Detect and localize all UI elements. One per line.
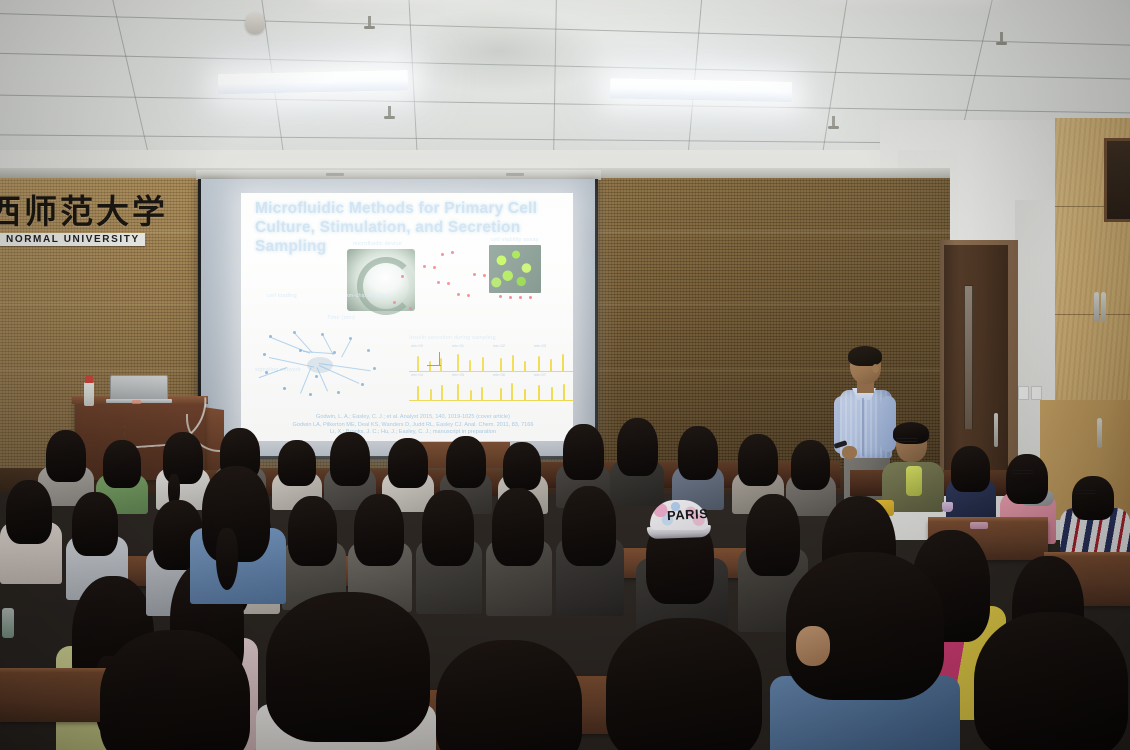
audience-member-foreground: [96, 636, 256, 750]
mobile-phone: [970, 522, 988, 529]
desk-surface: [928, 517, 1048, 522]
audience-member-olive-vest: [882, 424, 944, 510]
audience-member-foreground: [430, 646, 586, 750]
audience-member: [946, 446, 996, 516]
audience-member: [416, 490, 482, 608]
paris-cap: PARIS: [650, 500, 712, 542]
eyeglasses: [1074, 490, 1096, 494]
cap-text: PARIS: [667, 506, 709, 523]
audience-member: [348, 494, 412, 606]
eyeglasses: [1012, 470, 1034, 474]
audience-member: [282, 496, 346, 606]
lecture-hall-photo: 西师范大学 XI NORMAL UNIVERSITY Microfluidic …: [0, 0, 1130, 750]
hand-on-face: [796, 626, 830, 666]
audience-member: [0, 480, 62, 580]
audience-member: [486, 488, 552, 608]
audience-member: [556, 486, 624, 608]
audience-member-foreground-denim: [770, 560, 960, 750]
audience-member-foreground: [600, 626, 766, 750]
audience-member-foreground: [256, 600, 436, 750]
water-bottle-desk: [2, 608, 14, 638]
audience: PARIS: [0, 0, 1130, 750]
eyeglasses: [896, 438, 918, 442]
cap-crown: PARIS: [650, 500, 708, 530]
audience-member-foreground: [966, 620, 1130, 750]
audience-member: [672, 426, 724, 506]
drink-cup: [942, 502, 953, 512]
audience-member-denim: [190, 470, 286, 598]
